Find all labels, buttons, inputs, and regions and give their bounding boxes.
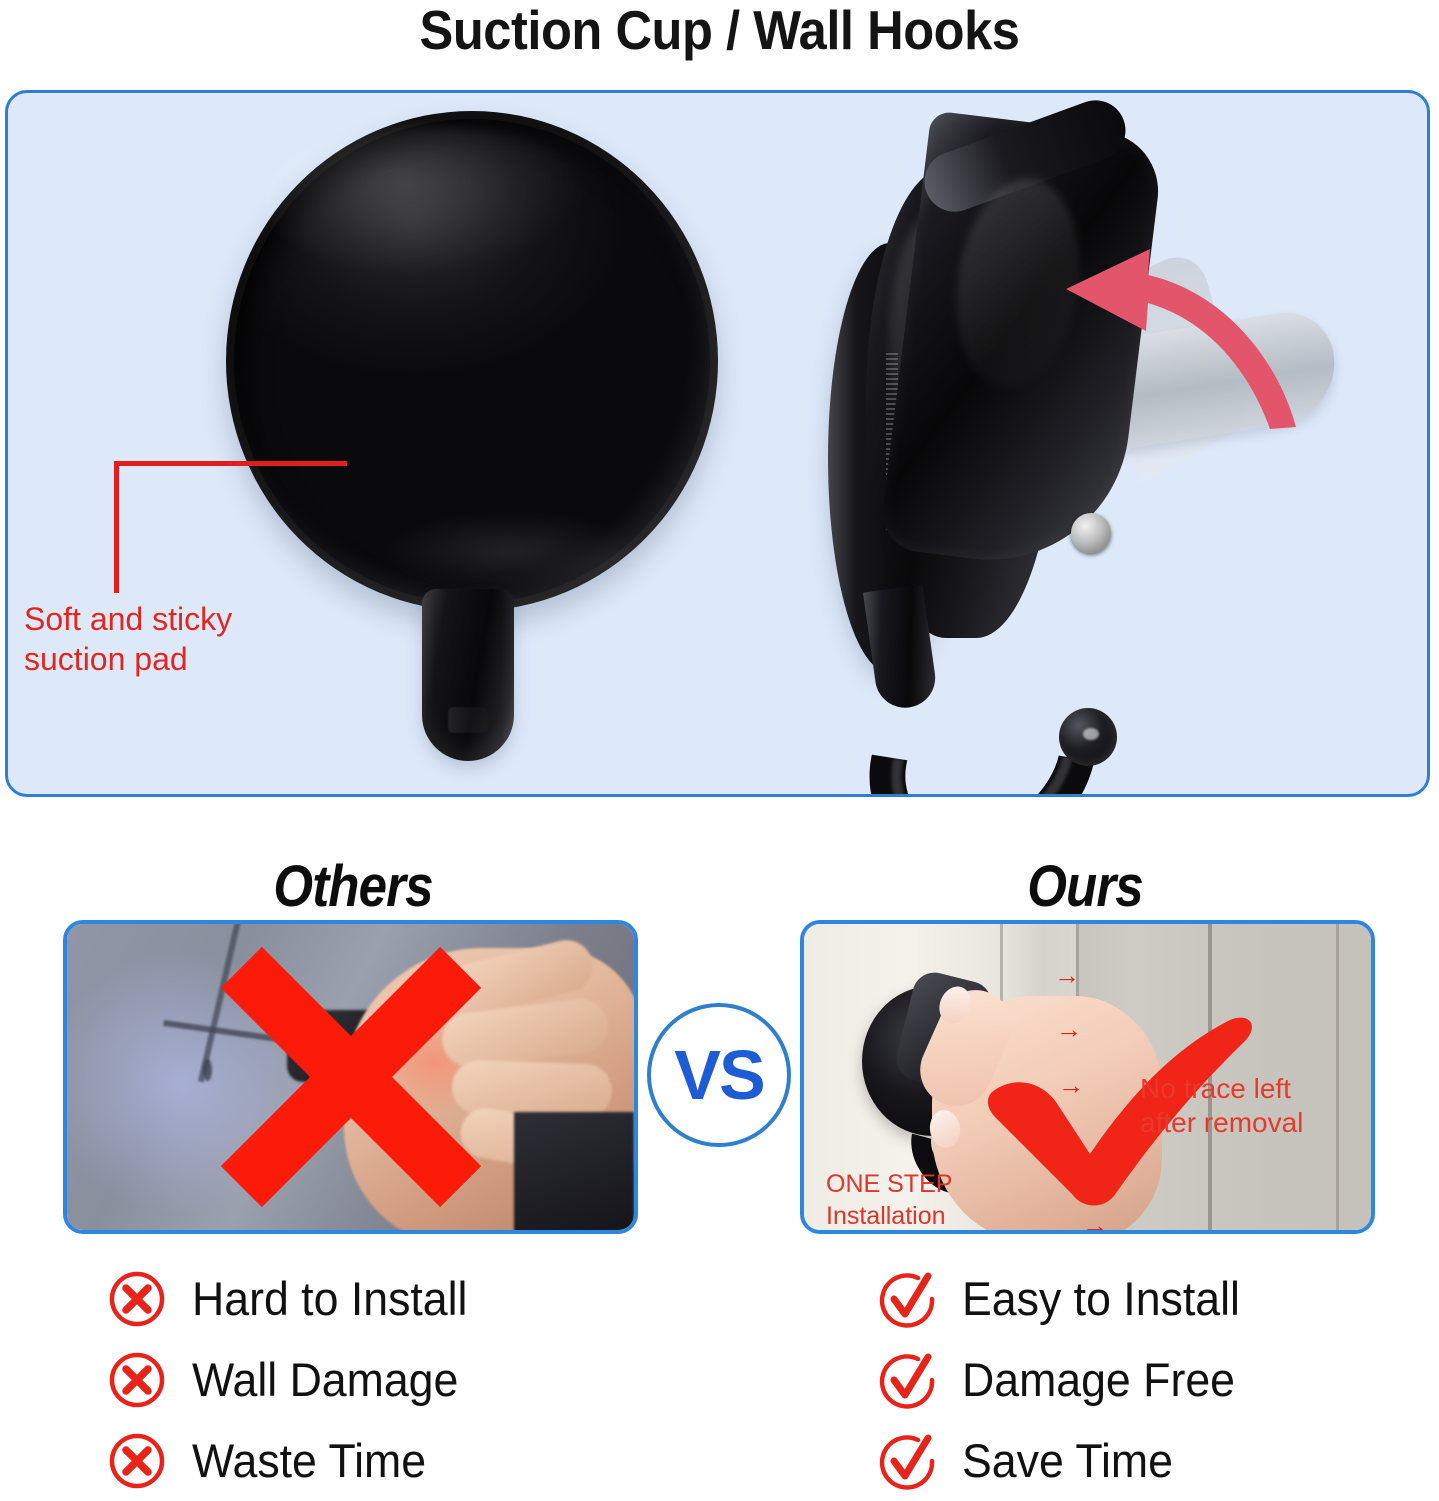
small-arrow-icon: → bbox=[1054, 962, 1080, 988]
note-line1: ONE STEP bbox=[826, 1168, 1006, 1200]
callout-leader-horizontal bbox=[114, 461, 347, 466]
note-no-trace-left: No trace left after removal bbox=[1140, 1072, 1370, 1140]
photo-hard-install bbox=[63, 920, 638, 1234]
callout-label-line1: Soft and sticky bbox=[24, 599, 294, 639]
list-item-label: Save Time bbox=[962, 1432, 1173, 1490]
disc-face bbox=[226, 111, 718, 611]
list-item: Damage Free bbox=[878, 1339, 1439, 1420]
small-arrow-icon: → bbox=[1082, 1212, 1108, 1234]
callout-leader-vertical bbox=[114, 461, 119, 593]
circle-x-icon bbox=[108, 1432, 166, 1490]
disc-lower-highlight bbox=[376, 511, 646, 591]
others-bullet-list: Hard to Install Wall Damage Waste Time bbox=[108, 1258, 728, 1501]
list-item-label: Damage Free bbox=[962, 1351, 1235, 1409]
disc-hook-stub bbox=[422, 589, 514, 761]
vs-badge: VS bbox=[647, 1003, 791, 1147]
circle-x-icon bbox=[108, 1270, 166, 1328]
list-item: Waste Time bbox=[108, 1420, 728, 1501]
wall-mark bbox=[203, 1059, 212, 1081]
side-hook-shape bbox=[863, 588, 1128, 797]
hero-panel-content: Soft and sticky suction pad bbox=[8, 93, 1427, 794]
sleeve-in-photo bbox=[514, 1112, 634, 1234]
list-item: Easy to Install bbox=[878, 1258, 1439, 1339]
disc-stub-marking bbox=[448, 707, 488, 733]
note-line2: after removal bbox=[1140, 1106, 1370, 1140]
suction-cup-hook-side-icon bbox=[808, 118, 1328, 797]
note-line1: No trace left bbox=[1140, 1072, 1370, 1106]
comparison-heading-ours: Ours bbox=[883, 852, 1288, 922]
page-title: Suction Cup / Wall Hooks bbox=[58, 0, 1382, 62]
list-item-label: Easy to Install bbox=[962, 1270, 1240, 1328]
comparison-heading-others: Others bbox=[151, 852, 556, 922]
circle-check-icon bbox=[878, 1432, 936, 1490]
list-item-label: Hard to Install bbox=[192, 1270, 467, 1328]
list-item-label: Waste Time bbox=[192, 1432, 426, 1490]
suction-cup-disc-front-icon bbox=[226, 111, 746, 761]
curved-arrow-left-icon bbox=[1028, 231, 1308, 431]
photo-easy-install: → → → → → No trace left after removal ON… bbox=[800, 920, 1375, 1234]
list-item: Save Time bbox=[878, 1420, 1439, 1501]
hero-product-panel: Soft and sticky suction pad bbox=[5, 90, 1430, 797]
ours-bullet-list: Easy to Install Damage Free Save Time bbox=[878, 1258, 1439, 1501]
hook-ball-specular bbox=[1083, 728, 1099, 740]
disc-highlight bbox=[262, 125, 592, 275]
note-one-step-installation: ONE STEP Installation bbox=[826, 1168, 1006, 1232]
photo-others-scene bbox=[67, 924, 634, 1230]
circle-check-icon bbox=[878, 1351, 936, 1409]
list-item: Hard to Install bbox=[108, 1258, 728, 1339]
note-line2: Installation bbox=[826, 1200, 1006, 1232]
list-item-label: Wall Damage bbox=[192, 1351, 458, 1409]
callout-label-soft-sticky-pad: Soft and sticky suction pad bbox=[24, 599, 294, 679]
side-pivot-pin bbox=[1071, 513, 1111, 553]
list-item: Wall Damage bbox=[108, 1339, 728, 1420]
circle-check-icon bbox=[878, 1270, 936, 1328]
photo-ours-scene: → → → → → No trace left after removal ON… bbox=[804, 924, 1371, 1230]
callout-label-line2: suction pad bbox=[24, 639, 294, 679]
circle-x-icon bbox=[108, 1351, 166, 1409]
